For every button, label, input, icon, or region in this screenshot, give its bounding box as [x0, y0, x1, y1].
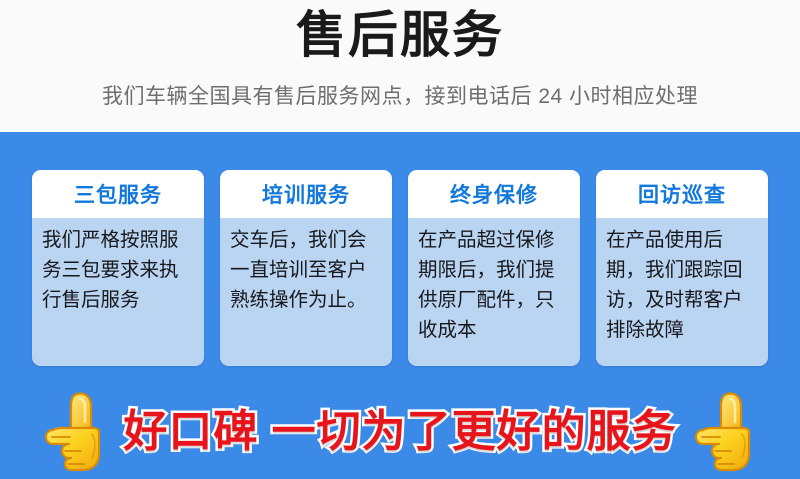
thumbs-up-icon [39, 388, 111, 476]
service-card-description: 在产品使用后期，我们跟踪回访，及时帮客户排除故障 [606, 225, 759, 345]
page-title: 售后服务 [0, 4, 800, 66]
service-card[interactable]: 回访巡查 在产品使用后期，我们跟踪回访，及时帮客户排除故障 [596, 170, 768, 366]
service-card-title: 终身保修 [450, 179, 538, 209]
service-card-header: 回访巡查 [596, 170, 768, 218]
blue-content-area: 三包服务 我们严格按照服务三包要求来执行售后服务 培训服务 交车后，我们会一直培… [0, 132, 800, 479]
service-card-body: 在产品使用后期，我们跟踪回访，及时帮客户排除故障 [596, 218, 768, 366]
slogan-text: 好口碑 一切为了更好的服务 [123, 404, 676, 460]
promo-banner: 售后服务 我们车辆全国具有售后服务网点，接到电话后 24 小时相应处理 三包服务… [0, 0, 800, 479]
service-card-header: 培训服务 [220, 170, 392, 218]
service-card-row: 三包服务 我们严格按照服务三包要求来执行售后服务 培训服务 交车后，我们会一直培… [32, 170, 768, 366]
service-card-title: 培训服务 [262, 179, 350, 209]
thumbs-up-icon [689, 388, 761, 476]
slogan-bar: 好口碑 一切为了更好的服务 [0, 384, 800, 479]
service-card-header: 三包服务 [32, 170, 204, 218]
service-card[interactable]: 终身保修 在产品超过保修期限后，我们提供原厂配件，只收成本 [408, 170, 580, 366]
header-section: 售后服务 我们车辆全国具有售后服务网点，接到电话后 24 小时相应处理 [0, 0, 800, 132]
service-card-description: 在产品超过保修期限后，我们提供原厂配件，只收成本 [418, 225, 571, 345]
service-card-description: 我们严格按照服务三包要求来执行售后服务 [42, 225, 195, 315]
service-card-title: 回访巡查 [638, 179, 726, 209]
service-card-body: 交车后，我们会一直培训至客户熟练操作为止。 [220, 218, 392, 366]
service-card-description: 交车后，我们会一直培训至客户熟练操作为止。 [230, 225, 383, 315]
service-card[interactable]: 培训服务 交车后，我们会一直培训至客户熟练操作为止。 [220, 170, 392, 366]
service-card-body: 在产品超过保修期限后，我们提供原厂配件，只收成本 [408, 218, 580, 366]
service-card-header: 终身保修 [408, 170, 580, 218]
page-subtitle: 我们车辆全国具有售后服务网点，接到电话后 24 小时相应处理 [0, 82, 800, 112]
service-card-title: 三包服务 [74, 179, 162, 209]
service-card[interactable]: 三包服务 我们严格按照服务三包要求来执行售后服务 [32, 170, 204, 366]
service-card-body: 我们严格按照服务三包要求来执行售后服务 [32, 218, 204, 366]
